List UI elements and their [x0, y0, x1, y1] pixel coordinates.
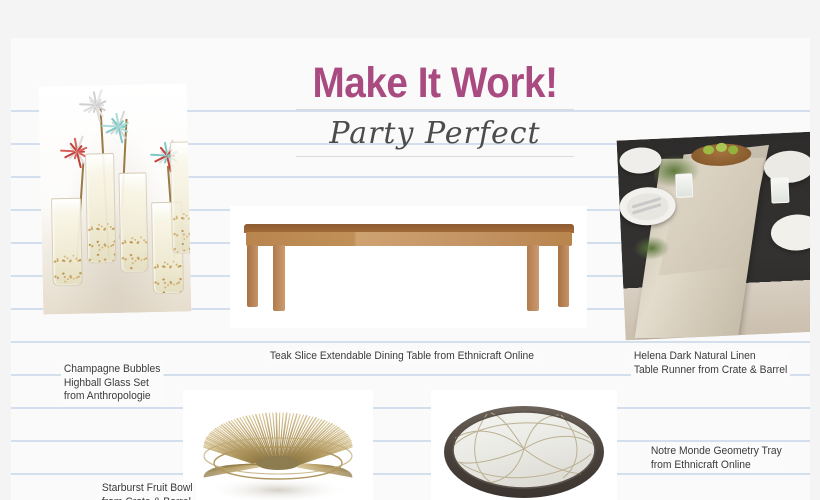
photo-dining-table[interactable] — [230, 206, 587, 328]
champagne-glasses-image — [39, 83, 192, 314]
photo-table-runner[interactable] — [617, 132, 810, 341]
rule-line — [11, 473, 810, 475]
header-block: Make It Work! Party Perfect — [290, 60, 580, 157]
photo-champagne-glasses[interactable] — [39, 83, 192, 314]
caption-table-runner: Helena Dark Natural Linen Table Runner f… — [631, 349, 790, 378]
table-runner-image — [617, 132, 810, 341]
photo-geometry-tray[interactable] — [431, 390, 617, 500]
rule-line — [11, 407, 810, 409]
stirrer-burst-teal — [103, 113, 134, 140]
notebook-page: Make It Work! Party Perfect — [11, 38, 810, 500]
caption-fruit-bowl: Starburst Fruit Bowl from Crate & Barrel — [99, 481, 195, 500]
geometry-tray-image — [431, 390, 617, 500]
geometry-tray-graphic — [431, 390, 617, 500]
page-title: Make It Work! — [305, 60, 566, 106]
subtitle-divider — [296, 156, 574, 157]
rule-line — [11, 341, 810, 343]
caption-dining-table: Teak Slice Extendable Dining Table from … — [267, 349, 537, 365]
moodboard-canvas: Make It Work! Party Perfect — [0, 0, 820, 500]
page-subtitle: Party Perfect — [290, 110, 580, 154]
starburst-bowl-graphic — [183, 390, 373, 500]
caption-champagne-glasses: Champagne Bubbles Highball Glass Set fro… — [61, 362, 163, 405]
rule-line — [11, 440, 810, 442]
caption-geometry-tray: Notre Monde Geometry Tray from Ethnicraf… — [648, 444, 785, 473]
photo-fruit-bowl[interactable] — [183, 390, 373, 500]
dining-table-image — [230, 206, 587, 328]
fruit-bowl-image — [183, 390, 373, 500]
